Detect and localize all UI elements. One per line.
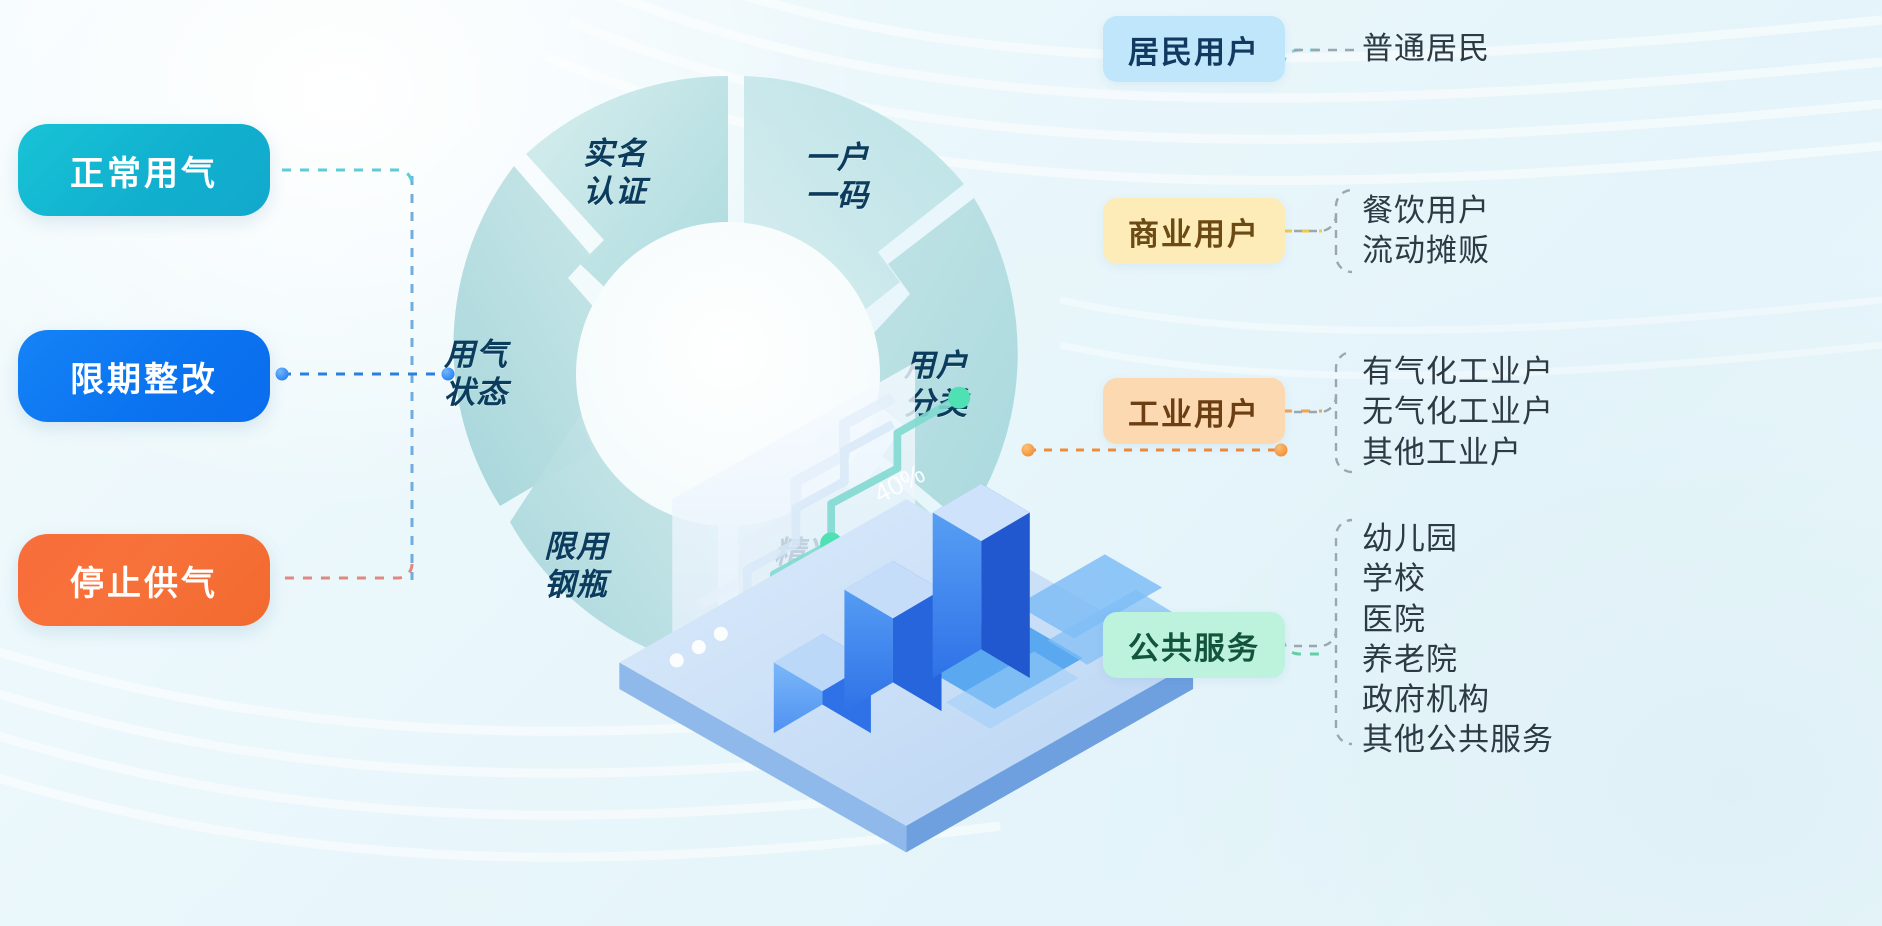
category-box-commercial[interactable]: 商业用户 [1103,198,1285,264]
isometric-dashboard-chart-icon: 20% 40% [584,230,1224,870]
category-box-industrial[interactable]: 工业用户 [1103,378,1285,444]
infographic-canvas: 正常用气 限期整改 停止供气 [0,0,1882,926]
category-box-public-service[interactable]: 公共服务 [1103,612,1285,678]
subitem-list-resident: 普通居民 [1362,29,1490,69]
capability-ring-diagram: 实名 认证 一户 一码 用气 状态 用户 分类 限用 钢瓶 精准 定位 [408,54,1048,694]
bracket-public-service [1292,512,1364,770]
connector-dot-left-inner [276,368,289,381]
bracket-resident [1292,30,1364,74]
subitem-list-industrial: 有气化工业户 无气化工业户 其他工业户 [1362,352,1554,473]
bracket-industrial [1292,344,1364,484]
status-pill-stop-supply[interactable]: 停止供气 [18,534,270,626]
connector-dot-right-outer [1275,444,1288,457]
category-box-resident[interactable]: 居民用户 [1103,16,1285,82]
status-pill-normal-gas[interactable]: 正常用气 [18,124,270,216]
isometric-bar-tall [933,484,1030,678]
ring-label-yihu-yima: 一户 一码 [805,139,869,215]
status-pill-rectify[interactable]: 限期整改 [18,330,270,422]
bracket-commercial [1292,186,1364,282]
connector-dot-right-inner [1022,444,1035,457]
subitem-list-public-service: 幼儿园 学校 医院 养老院 政府机构 其他公共服务 [1362,519,1554,761]
ring-label-yongqi-zhuangtai: 用气 状态 [444,336,508,412]
ring-label-shiming-renzheng: 实名 认证 [583,135,647,211]
subitem-list-commercial: 餐饮用户 流动摊贩 [1362,191,1490,272]
